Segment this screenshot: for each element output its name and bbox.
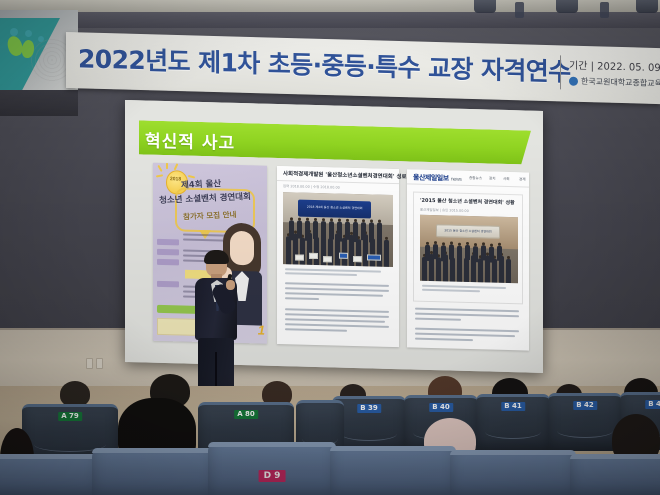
seat-front[interactable] xyxy=(450,450,576,495)
ceiling-light xyxy=(636,0,658,13)
seat-number-plate: A 79 xyxy=(58,412,82,421)
banner-divider xyxy=(560,55,561,89)
news-photo-right: 2015 울산 청소년 소셜벤처 경연대회 xyxy=(420,215,518,284)
seat-number-plate: B 43 xyxy=(645,400,660,409)
news-brand-suffix: news xyxy=(451,177,462,183)
banner-date: 기간 | 2022. 05. 09.(월 xyxy=(569,57,660,75)
seat-number-plate: B 42 xyxy=(573,401,597,410)
seat[interactable]: B 42 xyxy=(548,393,622,451)
slide-news-card-right: 울산제일일보 news 종합뉴스 정치 사회 경제 '2015 울산 청소년 소… xyxy=(407,169,529,350)
dot-icon xyxy=(38,36,44,42)
seat-front[interactable] xyxy=(570,454,660,495)
photo-stage-banner: 2015 울산 청소년 소셜벤처 경연대회 xyxy=(436,224,501,239)
seat-number-plate: D 9 xyxy=(259,470,286,482)
news-headline-right: '2015 울산 청소년 소셜벤처 경연대회' 성황 xyxy=(420,197,515,206)
news-nav-item[interactable]: 사회 xyxy=(503,177,510,182)
auditorium-scene: 2022년도 제1차 초등·중등·특수 교장 자격연수 기간 | 2022. 0… xyxy=(0,0,660,495)
presenter-hand xyxy=(226,280,235,290)
ceiling-light xyxy=(556,0,578,13)
news-article-box: '2015 울산 청소년 소셜벤처 경연대회' 성황 울산제일일보 | 승인 2… xyxy=(413,192,523,305)
news-nav-item[interactable]: 경제 xyxy=(519,177,526,182)
seat-front[interactable] xyxy=(0,454,98,495)
seat-number-plate: A 80 xyxy=(234,410,258,419)
photo-banner-text: 2015 울산 청소년 소셜벤처 경연대회 xyxy=(437,228,500,234)
poster-line-3: 참가자 모집 안내 xyxy=(183,209,237,222)
seat-number-plate: B 40 xyxy=(429,403,453,412)
slide-title: 혁신적 사고 xyxy=(145,127,235,154)
seat-number-plate: B 41 xyxy=(501,402,525,411)
wall-dark-panel xyxy=(0,90,78,116)
poster-year: 2018 xyxy=(170,176,181,182)
seat-front[interactable] xyxy=(92,448,214,495)
wall-outlet xyxy=(96,358,103,369)
ceiling-fixture xyxy=(600,2,609,18)
news-byline-right: 울산제일일보 | 승인 2015.00.00 xyxy=(420,207,469,213)
news-brand-right: 울산제일일보 news xyxy=(413,173,462,184)
organization-name: 한국교원대학교종합교육연 xyxy=(581,76,660,89)
photo-crowd xyxy=(283,220,393,268)
ceiling-light xyxy=(474,0,496,13)
seat-front[interactable] xyxy=(330,446,456,495)
organization-logo-icon xyxy=(569,77,578,86)
news-nav-item[interactable]: 종합뉴스 xyxy=(469,176,482,181)
seat-number-plate: B 39 xyxy=(357,404,381,413)
banner-title: 2022년도 제1차 초등·중등·특수 교장 자격연수 xyxy=(78,39,571,88)
seat-front[interactable]: D 9 xyxy=(208,442,336,495)
news-nav-item[interactable]: 정치 xyxy=(489,177,496,182)
news-photo-center: 2018 제4회 울산 청소년 소셜벤처 경연대회 xyxy=(283,192,393,267)
dot-icon xyxy=(10,28,18,36)
seat[interactable]: B 41 xyxy=(476,394,550,452)
dot-icon xyxy=(25,30,32,37)
banner-organization: 한국교원대학교종합교육연 xyxy=(569,76,660,90)
photo-stage-banner: 2018 제4회 울산 청소년 소셜벤처 경연대회 xyxy=(298,200,371,219)
ceiling-fixture xyxy=(515,2,524,18)
slide-news-card-center: 사회적경제개발원 '울산청소년소셜벤처경연대회' 성료 입력 2018.00.0… xyxy=(277,166,399,347)
photo-banner-text: 2018 제4회 울산 청소년 소셜벤처 경연대회 xyxy=(298,204,371,210)
photo-crowd xyxy=(420,245,518,283)
wall-outlet xyxy=(86,358,93,369)
poster-line-1: 제4회 울산 xyxy=(181,177,222,191)
poster-number-mark: 1 xyxy=(258,322,265,337)
news-byline-center: 입력 2018.00.00 | 수정 2018.00.00 xyxy=(283,183,340,189)
presenter-hair xyxy=(204,250,229,264)
